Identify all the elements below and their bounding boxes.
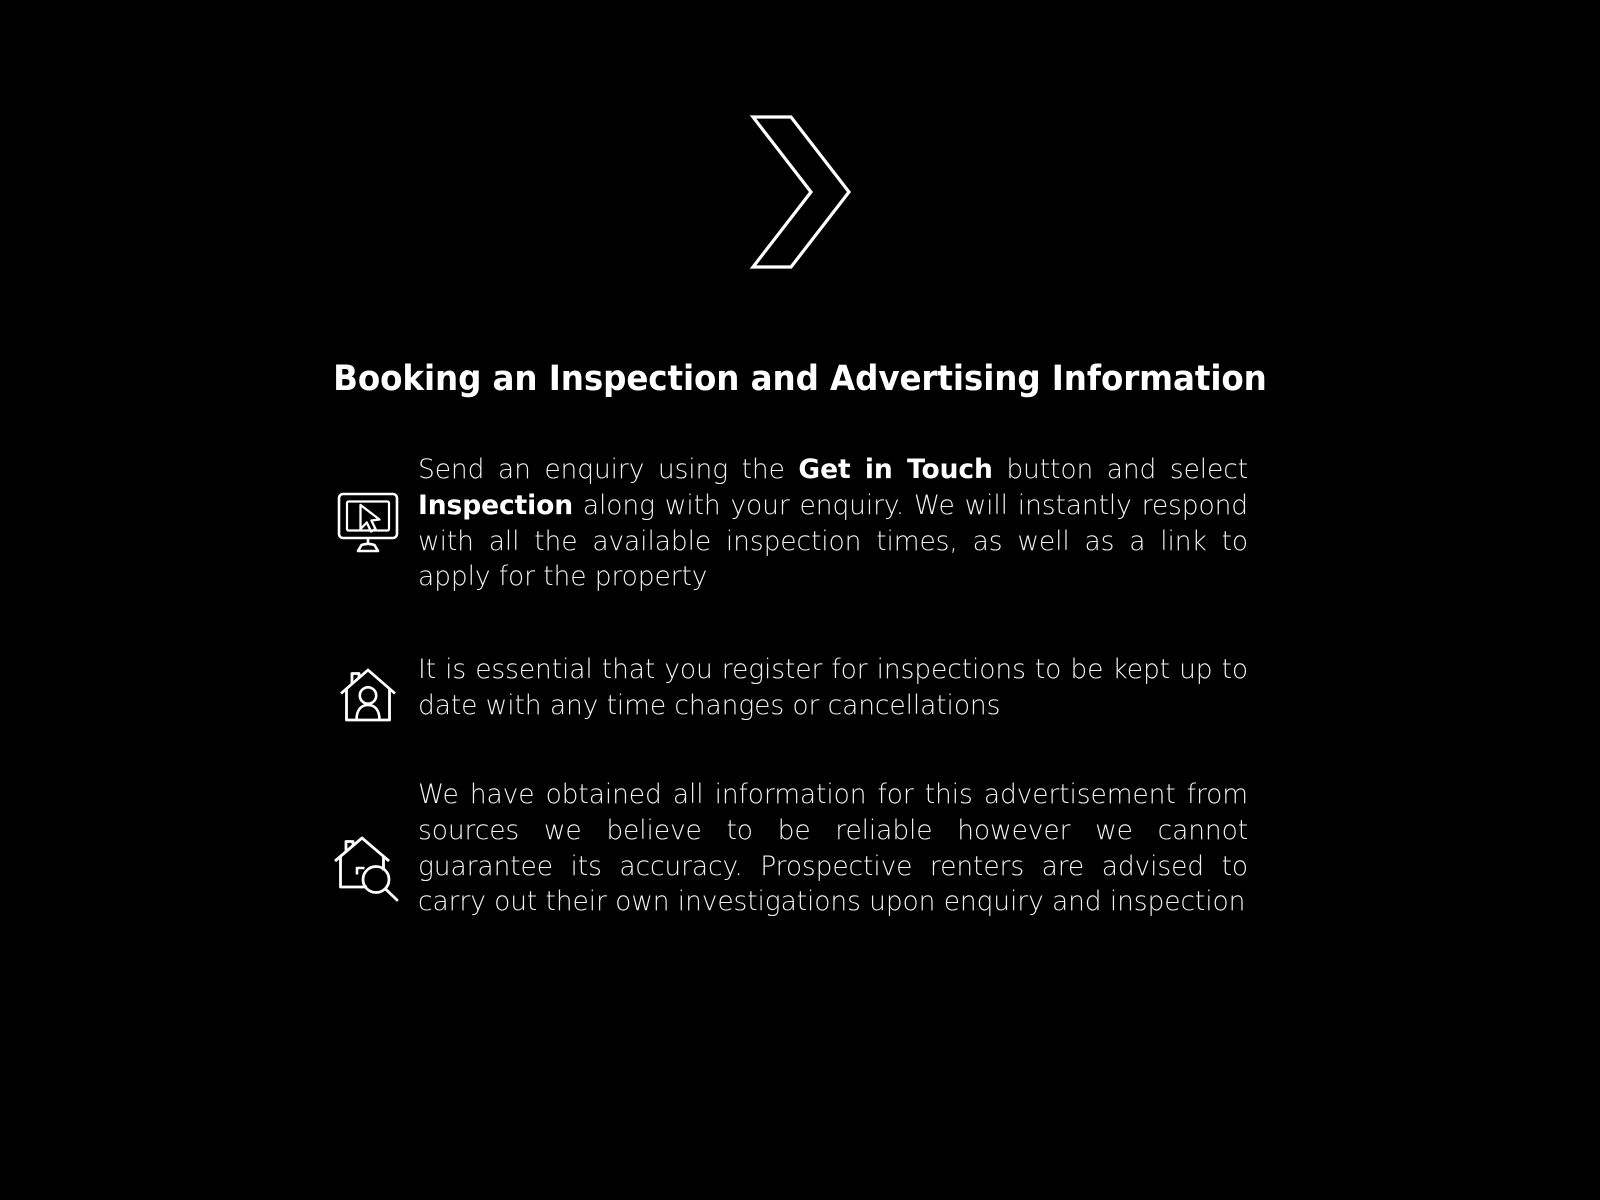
monitor-cursor-icon [318, 488, 418, 554]
page-title-text: Booking an Inspection and Advertising In… [333, 359, 1267, 399]
page-title: Booking an Inspection and Advertising In… [0, 359, 1600, 399]
slide-root: Booking an Inspection and Advertising In… [0, 0, 1600, 1200]
info-block-text: We have obtained all information for thi… [418, 777, 1248, 920]
info-block: Send an enquiry using the Get in Touch b… [318, 452, 1248, 595]
house-person-icon [318, 662, 418, 728]
info-block: It is essential that you register for in… [318, 652, 1248, 728]
text-segment: It is essential that you register for in… [418, 654, 1248, 721]
chevron-right-outline-icon [745, 112, 855, 272]
text-segment-bold: Get in Touch [798, 454, 992, 485]
house-magnifier-icon [318, 832, 418, 906]
text-segment-bold: Inspection [418, 490, 573, 521]
info-block: We have obtained all information for thi… [318, 777, 1248, 920]
text-segment: Send an enquiry using the [418, 454, 798, 485]
info-block-text: Send an enquiry using the Get in Touch b… [418, 452, 1248, 595]
text-segment: button and select [993, 454, 1248, 485]
info-block-text: It is essential that you register for in… [418, 652, 1248, 724]
brand-logo [0, 112, 1600, 272]
text-segment: We have obtained all information for thi… [418, 779, 1248, 917]
